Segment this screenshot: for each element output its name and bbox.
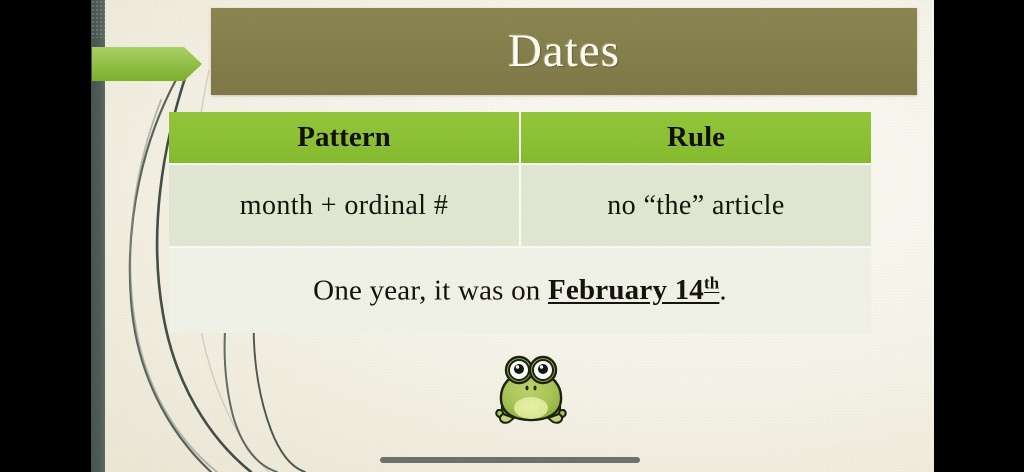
table-example-row: One year, it was on February 14th.: [169, 246, 871, 333]
example-sentence: One year, it was on February 14th.: [169, 246, 871, 333]
cell-rule-value: no “the” article: [521, 163, 871, 246]
table-header-row: Pattern Rule: [169, 112, 871, 163]
column-header-pattern: Pattern: [169, 112, 521, 163]
table-row: month + ordinal # no “the” article: [169, 163, 871, 246]
pattern-rule-table: Pattern Rule month + ordinal # no “the” …: [169, 112, 871, 333]
video-progress-bar[interactable]: [380, 457, 640, 463]
example-trailing-period: .: [719, 274, 726, 306]
frog-icon: [491, 350, 571, 430]
example-date-main: February 14: [548, 274, 704, 306]
example-date-ordinal-suffix: th: [704, 274, 719, 293]
cell-pattern-value: month + ordinal #: [169, 163, 521, 246]
presentation-slide: Dates Pattern Rule month + ordinal # no …: [91, 0, 934, 472]
slide-title-banner: Dates: [211, 8, 917, 95]
column-header-rule: Rule: [521, 112, 871, 163]
slate-bar-dot-texture: [91, 0, 105, 38]
page-title: Dates: [508, 28, 620, 75]
example-highlighted-date: February 14th: [548, 274, 719, 306]
video-viewport: Dates Pattern Rule month + ordinal # no …: [0, 0, 1024, 472]
green-arrow-tab-icon: [92, 47, 202, 81]
example-lead-text: One year, it was on: [313, 274, 548, 306]
